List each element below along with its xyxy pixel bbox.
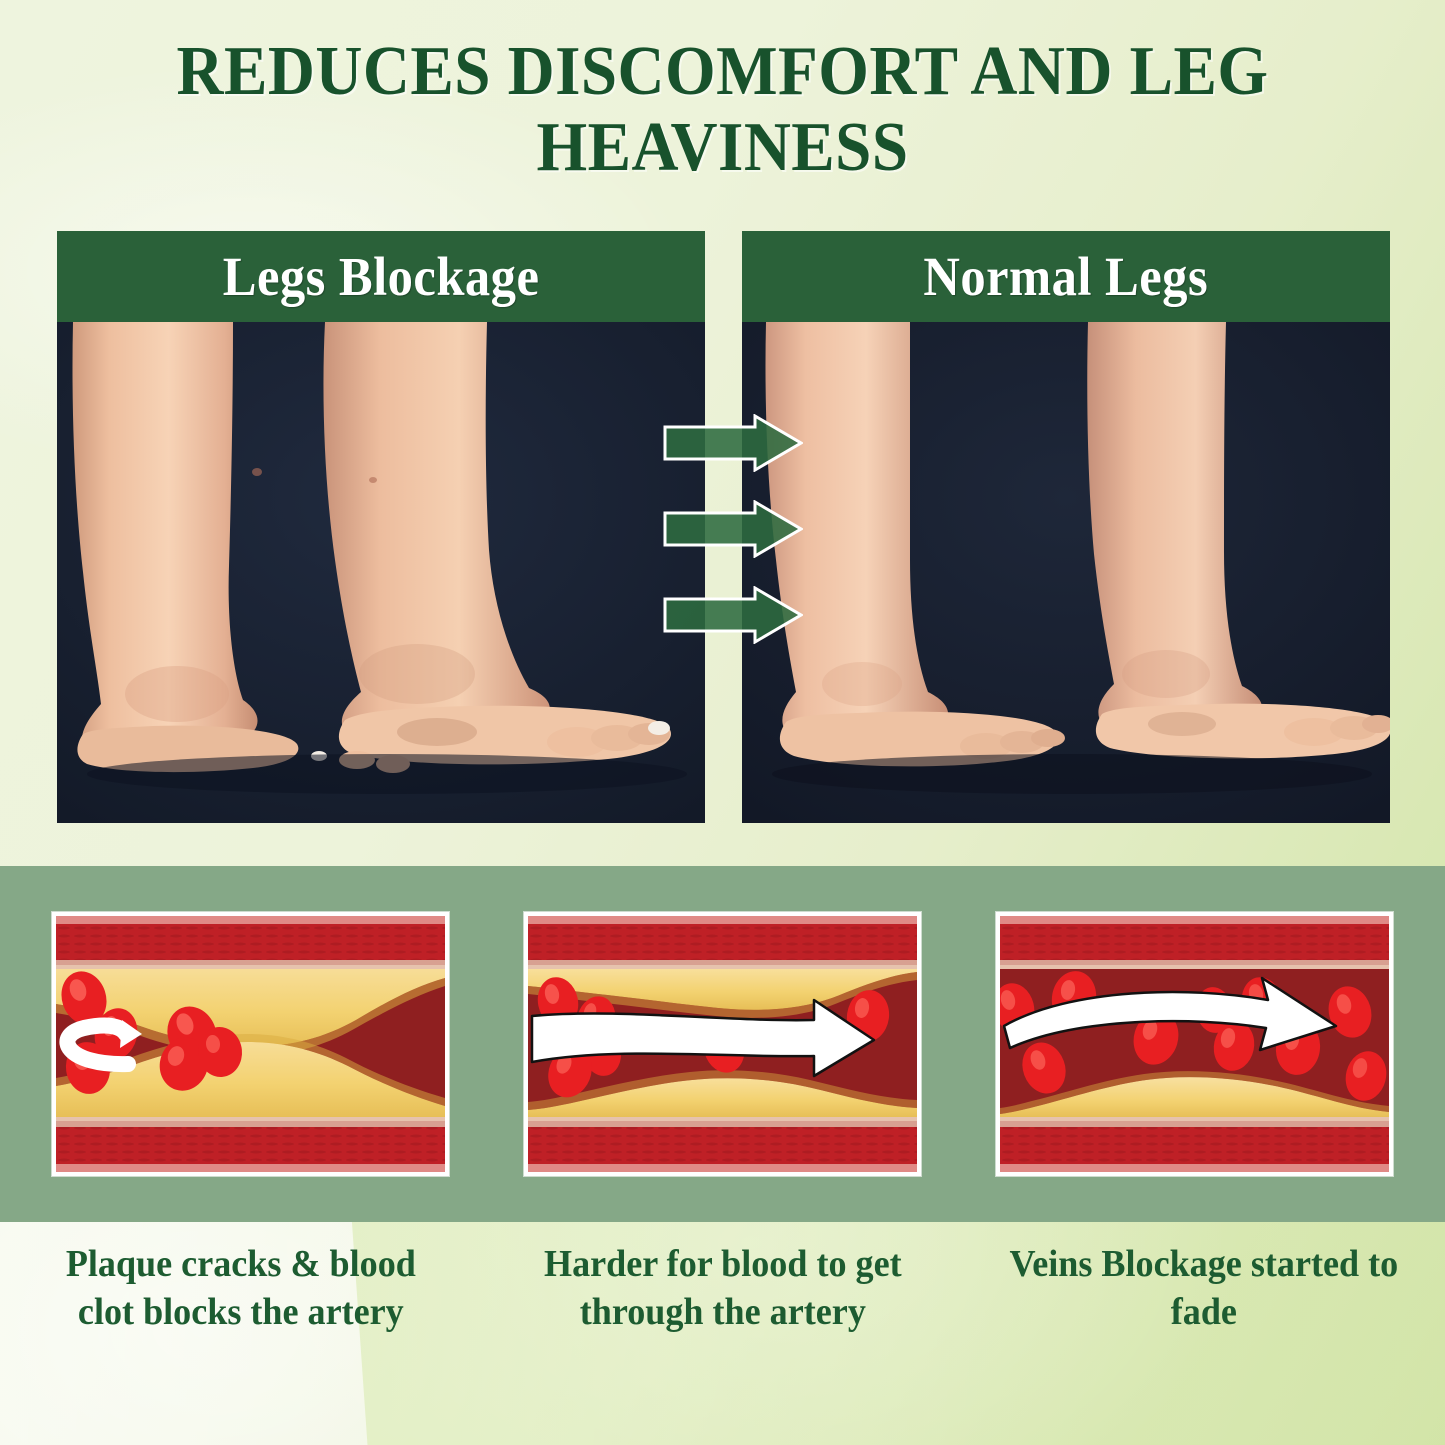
- artery-card-stage-3: [996, 912, 1393, 1176]
- comparison-panel-blockage: Legs Blockage: [57, 231, 705, 823]
- artery-diagram-band: [0, 866, 1445, 1222]
- panel-header-normal-label: Normal Legs: [924, 245, 1209, 308]
- comparison-panel-normal: Normal Legs: [742, 231, 1390, 823]
- artery-card-stage-2: [524, 912, 921, 1176]
- caption-stage-1: Plaque cracks & blood clot blocks the ar…: [0, 1240, 482, 1445]
- arrow-right-icon-2: [663, 500, 803, 558]
- photo-legs-normal: [742, 322, 1390, 823]
- poster-root: REDUCES DISCOMFORT AND LEG HEAVINESS Leg…: [0, 0, 1445, 1445]
- artery-diagram-stage-3: [1000, 916, 1389, 1172]
- caption-stage-2: Harder for blood to get through the arte…: [482, 1240, 964, 1445]
- caption-stage-3-text: Veins Blockage started to fade: [1000, 1240, 1408, 1337]
- page-title: REDUCES DISCOMFORT AND LEG HEAVINESS: [51, 34, 1395, 185]
- transition-arrows: [663, 414, 803, 644]
- artery-diagram-stage-2: [528, 916, 917, 1172]
- panel-header-blockage: Legs Blockage: [57, 231, 705, 322]
- panel-header-blockage-label: Legs Blockage: [223, 245, 540, 308]
- caption-stage-3: Veins Blockage started to fade: [963, 1240, 1445, 1445]
- artery-card-stage-1: [52, 912, 449, 1176]
- arrow-right-icon-1: [663, 414, 803, 472]
- arrow-right-icon-3: [663, 586, 803, 644]
- artery-diagram-stage-1: [56, 916, 445, 1172]
- caption-row: Plaque cracks & blood clot blocks the ar…: [0, 1240, 1445, 1445]
- caption-stage-1-text: Plaque cracks & blood clot blocks the ar…: [37, 1240, 445, 1337]
- photo-legs-blockage: [57, 322, 705, 823]
- caption-stage-2-text: Harder for blood to get through the arte…: [518, 1240, 926, 1337]
- panel-header-normal: Normal Legs: [742, 231, 1390, 322]
